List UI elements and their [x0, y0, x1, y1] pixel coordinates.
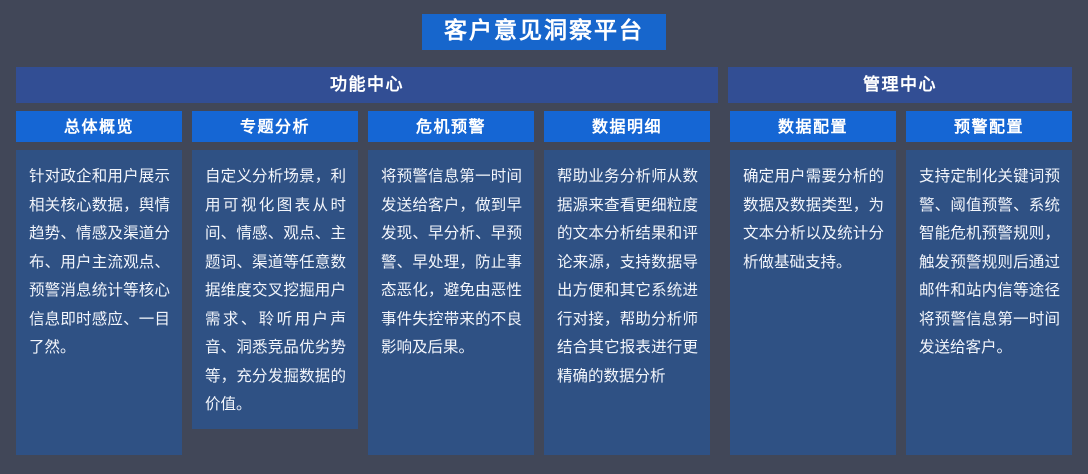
feature-card-overview[interactable]: 总体概览 针对政企和用户展示相关核心数据，舆情趋势、情感及渠道分布、用户主流观点… — [16, 111, 182, 455]
card-header-topic-analysis[interactable]: 专题分析 — [192, 111, 358, 142]
card-body-crisis-alert: 将预警信息第一时间发送给客户，做到早发现、早分析、早预警、早处理，防止事态恶化，… — [368, 150, 534, 455]
card-header-crisis-alert[interactable]: 危机预警 — [368, 111, 534, 142]
section-header-bar-group: 功能中心 管理中心 — [16, 67, 1072, 103]
title-row: 客户意见洞察平台 — [0, 13, 1088, 51]
card-header-data-detail[interactable]: 数据明细 — [544, 111, 710, 142]
section-header-management-center: 管理中心 — [728, 67, 1072, 103]
card-body-alert-config: 支持定制化关键词预警、阈值预警、系统智能危机预警规则，触发预警规则后通过邮件和站… — [906, 150, 1072, 455]
card-header-alert-config[interactable]: 预警配置 — [906, 111, 1072, 142]
page-title: 客户意见洞察平台 — [422, 14, 666, 50]
feature-card-alert-config[interactable]: 预警配置 支持定制化关键词预警、阈值预警、系统智能危机预警规则，触发预警规则后通… — [906, 111, 1072, 455]
card-body-data-detail: 帮助业务分析师从数据源来查看更细粒度的文本分析结果和评论来源，支持数据导出方便和… — [544, 150, 710, 455]
feature-card-topic-analysis[interactable]: 专题分析 自定义分析场景，利用可视化图表从时间、情感、观点、主题词、渠道等任意数… — [192, 111, 358, 429]
feature-card-data-detail[interactable]: 数据明细 帮助业务分析师从数据源来查看更细粒度的文本分析结果和评论来源，支持数据… — [544, 111, 710, 455]
card-header-data-config[interactable]: 数据配置 — [730, 111, 896, 142]
card-body-topic-analysis: 自定义分析场景，利用可视化图表从时间、情感、观点、主题词、渠道等任意数据维度交叉… — [192, 150, 358, 429]
platform-overview-page: 客户意见洞察平台 功能中心 管理中心 总体概览 针对政企和用户展示相关核心数据，… — [0, 0, 1088, 474]
feature-card-grid: 总体概览 针对政企和用户展示相关核心数据，舆情趋势、情感及渠道分布、用户主流观点… — [16, 111, 1072, 459]
feature-card-crisis-alert[interactable]: 危机预警 将预警信息第一时间发送给客户，做到早发现、早分析、早预警、早处理，防止… — [368, 111, 534, 455]
section-header-function-center: 功能中心 — [16, 67, 718, 103]
feature-card-data-config[interactable]: 数据配置 确定用户需要分析的数据及数据类型，为文本分析以及统计分析做基础支持。 — [730, 111, 896, 455]
card-header-overview[interactable]: 总体概览 — [16, 111, 182, 142]
card-body-overview: 针对政企和用户展示相关核心数据，舆情趋势、情感及渠道分布、用户主流观点、预警消息… — [16, 150, 182, 455]
card-body-data-config: 确定用户需要分析的数据及数据类型，为文本分析以及统计分析做基础支持。 — [730, 150, 896, 455]
